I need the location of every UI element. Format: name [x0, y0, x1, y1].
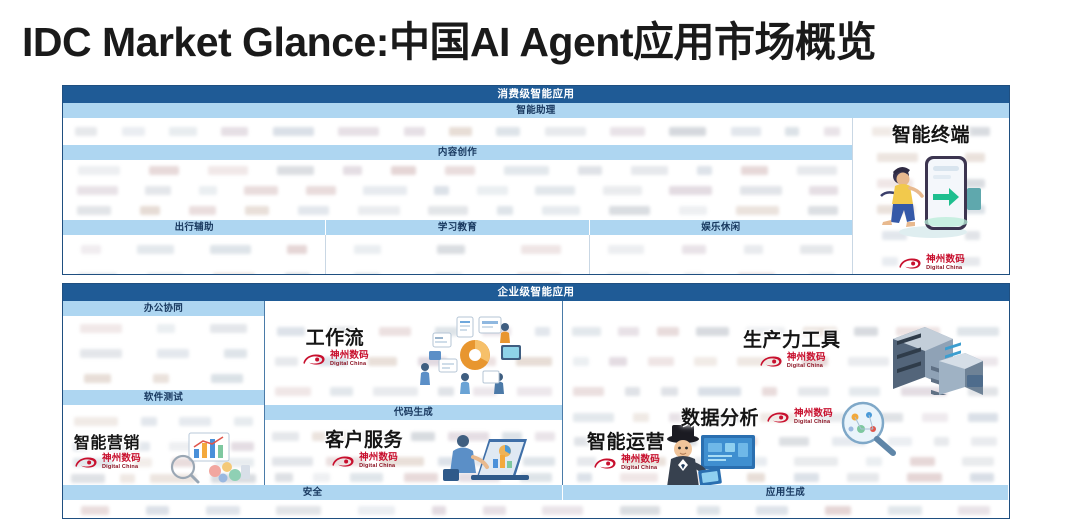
vendor-logo-grid-assistant	[63, 118, 852, 145]
vendor-logo	[872, 127, 910, 136]
vendor-logo	[74, 417, 118, 426]
vendor-logo	[211, 474, 256, 483]
vendor-logo	[746, 327, 785, 336]
vendor-logo	[75, 127, 97, 136]
vendor-logo	[738, 273, 775, 276]
vendor-logo	[448, 432, 489, 441]
vendor-logo	[73, 458, 113, 467]
vendor-logo	[803, 327, 837, 336]
enterprise-column-2: 代码生成	[265, 301, 563, 485]
vendor-logo	[737, 357, 781, 366]
vendor-logo	[762, 387, 777, 396]
vendor-logo-row	[563, 405, 1008, 429]
vendor-logo	[572, 327, 601, 336]
vendor-logo	[516, 357, 552, 366]
vendor-logo	[882, 257, 898, 266]
vendor-logo	[404, 127, 425, 136]
vendor-logo	[221, 127, 248, 136]
vendor-logo	[741, 166, 768, 175]
vendor-logo-grid-productivity	[563, 316, 1008, 405]
vendor-logo	[77, 186, 118, 195]
vendor-logo	[901, 387, 947, 396]
vendor-logo	[244, 186, 278, 195]
vendor-logo	[285, 273, 310, 276]
vendor-logo	[199, 186, 217, 195]
vendor-logo-row	[853, 144, 1009, 170]
vendor-logo	[573, 413, 614, 422]
vendor-logo	[418, 357, 447, 366]
consumer-section-header: 消费级智能应用	[63, 86, 1009, 103]
vendor-logo	[231, 442, 254, 451]
subcategory-entertainment-leisure: 娱乐休闲	[590, 220, 852, 235]
vendor-logo	[794, 457, 838, 466]
vendor-logo	[747, 473, 765, 482]
vendor-logo	[877, 179, 913, 188]
vendor-logo	[77, 206, 111, 215]
vendor-logo	[435, 273, 462, 276]
vendor-logo	[80, 324, 122, 333]
vendor-logo	[206, 506, 240, 515]
vendor-logo	[437, 245, 465, 254]
vendor-logo	[698, 387, 741, 396]
vendor-logo	[849, 387, 880, 396]
vendor-logo	[438, 387, 454, 396]
vendor-logo-grid-marketing	[63, 438, 264, 485]
vendor-logo	[809, 273, 835, 276]
vendor-logo	[208, 166, 248, 175]
vendor-logo-row	[63, 438, 264, 454]
vendor-logo	[272, 457, 313, 466]
vendor-logo	[78, 166, 120, 175]
vendor-logo	[458, 473, 500, 482]
vendor-logo	[809, 186, 838, 195]
vendor-logo	[888, 506, 922, 515]
enterprise-section-header: 企业级智能应用	[63, 284, 1009, 301]
vendor-logo-grid-office	[63, 316, 264, 390]
vendor-logo	[607, 273, 650, 276]
vendor-logo	[350, 473, 383, 482]
vendor-logo	[432, 506, 446, 515]
vendor-logo-row	[590, 235, 852, 263]
vendor-logo-row	[563, 316, 1008, 346]
vendor-logo-grid-entertainment	[590, 235, 852, 275]
vendor-logo-row	[563, 469, 1008, 485]
vendor-logo	[157, 324, 175, 333]
vendor-logo	[373, 387, 418, 396]
vendor-logo	[669, 413, 691, 422]
vendor-logo	[78, 273, 117, 276]
vendor-logo	[896, 327, 940, 336]
vendor-logo	[633, 413, 649, 422]
vendor-logo-row	[265, 453, 562, 469]
vendor-logo	[785, 127, 799, 136]
vendor-logo-row	[63, 341, 264, 366]
vendor-logo	[210, 324, 247, 333]
vendor-logo	[744, 245, 763, 254]
vendor-logo	[169, 442, 212, 451]
vendor-logo	[141, 417, 157, 426]
vendor-logo	[832, 437, 866, 446]
vendor-logo	[502, 432, 522, 441]
vendor-logo-row	[63, 454, 264, 470]
vendor-logo	[169, 127, 197, 136]
vendor-logo	[909, 357, 948, 366]
vendor-logo	[631, 166, 668, 175]
vendor-logo	[329, 327, 355, 336]
vendor-logo	[318, 357, 348, 366]
vendor-logo	[731, 127, 761, 136]
vendor-logo	[343, 166, 362, 175]
vendor-logo	[473, 387, 497, 396]
vendor-logo	[661, 387, 678, 396]
vendor-logo-grid-content-creation	[63, 160, 852, 220]
vendor-logo	[697, 506, 720, 515]
vendor-logo	[361, 432, 398, 441]
vendor-logo	[338, 127, 379, 136]
vendor-logo	[627, 437, 659, 446]
vendor-logo	[848, 357, 889, 366]
vendor-logo	[922, 413, 948, 422]
vendor-logo-row	[326, 263, 588, 275]
vendor-logo	[330, 387, 353, 396]
enterprise-column-3: 生产力工具 神州数码 Digital China	[563, 301, 1008, 485]
vendor-logo-row	[265, 316, 562, 346]
vendor-logo	[189, 206, 216, 215]
vendor-logo	[275, 473, 293, 482]
vendor-logo	[120, 474, 135, 483]
subcategory-learning-education: 学习教育	[326, 220, 589, 235]
vendor-logo	[313, 473, 330, 482]
vendor-logo	[779, 437, 809, 446]
subcategory-security: 安全	[63, 485, 563, 500]
vendor-logo-grid-terminal	[853, 118, 1009, 275]
vendor-logo	[81, 245, 101, 254]
vendor-logo	[603, 186, 642, 195]
vendor-logo	[306, 186, 336, 195]
vendor-logo	[854, 327, 878, 336]
subcategory-software-testing: 软件测试	[63, 390, 264, 405]
consumer-body: 内容创作 出行辅助 学习教育 娱乐休闲	[63, 118, 1009, 275]
vendor-logo	[756, 506, 788, 515]
slide-canvas: IDC Market Glance:中国AI Agent应用市场概览 消费级智能…	[0, 0, 1080, 525]
vendor-logo	[391, 166, 416, 175]
vendor-logo	[965, 153, 985, 162]
vendor-logo-grid-testing	[63, 405, 264, 438]
subcategory-smart-assistant: 智能助理	[63, 103, 1009, 118]
vendor-logo	[81, 506, 109, 515]
vendor-logo-row	[63, 235, 325, 263]
vendor-logo	[106, 442, 150, 451]
vendor-logo	[273, 127, 314, 136]
vendor-logo	[866, 457, 882, 466]
page-title: IDC Market Glance:中国AI Agent应用市场概览	[22, 18, 1068, 66]
vendor-logo	[816, 413, 857, 422]
vendor-logo-row	[563, 453, 1008, 469]
enterprise-bottom-subcategory-row: 安全 应用生成	[63, 485, 1009, 500]
vendor-logo	[542, 506, 583, 515]
vendor-logo-row	[265, 420, 562, 453]
vendor-logo-row	[63, 160, 852, 180]
vendor-logo	[298, 206, 329, 215]
vendor-logo	[535, 327, 550, 336]
vendor-logo	[882, 231, 907, 240]
vendor-logo-row	[63, 316, 264, 341]
vendor-logo	[620, 473, 658, 482]
vendor-logo	[847, 473, 879, 482]
vendor-logo-row	[853, 222, 1009, 248]
vendor-logo-grid-customer-service	[265, 453, 562, 485]
vendor-logo-row	[63, 200, 852, 220]
vendor-logo	[696, 327, 729, 336]
vendor-logo	[275, 357, 298, 366]
vendor-logo-row	[63, 470, 264, 485]
vendor-logo	[877, 205, 915, 214]
vendor-logo	[272, 432, 299, 441]
vendor-logo	[482, 327, 511, 336]
vendor-logo	[245, 206, 269, 215]
vendor-logo	[969, 357, 998, 366]
vendor-logo	[276, 506, 321, 515]
vendor-logo	[610, 127, 645, 136]
vendor-logo	[686, 473, 719, 482]
vendor-logo	[577, 473, 592, 482]
consumer-subcategory-bar-row: 出行辅助 学习教育 娱乐休闲	[63, 220, 852, 235]
vendor-logo	[877, 413, 903, 422]
vendor-logo	[520, 473, 552, 482]
vendor-logo	[71, 474, 105, 483]
vendor-logo	[609, 357, 627, 366]
vendor-logo	[517, 387, 552, 396]
vendor-logo	[719, 437, 757, 446]
vendor-logo	[679, 206, 707, 215]
vendor-logo	[368, 357, 397, 366]
vendor-logo	[573, 387, 604, 396]
vendor-logo	[146, 506, 169, 515]
vendor-logo	[73, 442, 87, 451]
vendor-logo	[948, 127, 990, 136]
vendor-logo	[808, 206, 838, 215]
vendor-logo-row	[63, 366, 264, 390]
vendor-logo	[497, 206, 513, 215]
vendor-logo-row	[63, 405, 264, 438]
vendor-logo	[137, 245, 174, 254]
vendor-logo	[234, 417, 253, 426]
vendor-logo	[354, 245, 381, 254]
vendor-logo	[608, 245, 644, 254]
vendor-logo	[824, 127, 840, 136]
vendor-logo	[145, 186, 171, 195]
vendor-logo	[970, 473, 994, 482]
vendor-logo	[358, 506, 395, 515]
vendor-logo	[523, 457, 555, 466]
vendor-logo	[648, 357, 674, 366]
vendor-logo	[215, 458, 254, 467]
vendor-logo	[888, 437, 912, 446]
vendor-logo-row	[265, 376, 562, 405]
vendor-logo	[797, 166, 837, 175]
vendor-logo	[449, 127, 472, 136]
consumer-panel: 消费级智能应用 智能助理 内容创作 出行辅助 学习教育 娱乐休闲	[62, 85, 1010, 275]
vendor-logo	[573, 357, 589, 366]
vendor-logo	[800, 245, 833, 254]
vendor-logo	[968, 413, 998, 422]
vendor-logo	[134, 458, 152, 467]
vendor-logo-row	[63, 118, 852, 145]
vendor-logo-row	[853, 196, 1009, 222]
vendor-logo-grid-travel	[63, 235, 326, 275]
vendor-logo	[379, 327, 411, 336]
vendor-logo	[910, 457, 935, 466]
vendor-logo	[147, 273, 183, 276]
vendor-logo	[150, 474, 196, 483]
enterprise-column-1: 办公协同 软件测试	[63, 301, 265, 485]
vendor-logo	[578, 166, 602, 175]
vendor-logo-grid-code-generation	[265, 420, 562, 453]
vendor-logo	[798, 387, 829, 396]
vendor-logo	[483, 506, 506, 515]
subcategory-travel-assist: 出行辅助	[63, 220, 326, 235]
vendor-logo	[277, 166, 314, 175]
subcategory-office-collaboration: 办公协同	[63, 301, 264, 316]
vendor-logo-row	[265, 469, 562, 485]
vendor-logo	[802, 357, 828, 366]
vendor-logo-grid-workflow	[265, 316, 562, 405]
vendor-logo	[521, 245, 561, 254]
vendor-logo	[907, 473, 942, 482]
vendor-logo	[965, 231, 980, 240]
vendor-logo	[963, 205, 985, 214]
vendor-logo	[794, 473, 819, 482]
vendor-logo	[958, 506, 990, 515]
vendor-logo	[354, 273, 380, 276]
vendor-logo	[609, 206, 650, 215]
vendor-logo	[739, 457, 767, 466]
vendor-logo-row	[63, 263, 325, 275]
subcategory-code-generation: 代码生成	[265, 405, 562, 420]
vendor-logo	[682, 245, 706, 254]
enterprise-body: 办公协同 软件测试	[63, 301, 1009, 485]
vendor-logo	[657, 327, 679, 336]
vendor-logo	[620, 506, 660, 515]
vendor-logo	[684, 273, 704, 276]
smart-terminal-region: 智能终端 神州数码 Digital China	[853, 118, 1009, 275]
vendor-logo	[122, 127, 145, 136]
vendor-logo	[496, 127, 520, 136]
vendor-logo	[740, 186, 782, 195]
vendor-logo	[224, 349, 247, 358]
vendor-logo-row	[63, 500, 1009, 519]
vendor-logo	[545, 127, 586, 136]
vendor-logo-grid-bottom	[63, 500, 1009, 519]
vendor-logo	[210, 245, 251, 254]
vendor-logo	[968, 387, 998, 396]
vendor-logo	[669, 186, 712, 195]
vendor-logo	[760, 413, 796, 422]
vendor-logo	[535, 186, 575, 195]
vendor-logo-row	[853, 118, 1009, 144]
vendor-logo	[694, 357, 717, 366]
vendor-logo	[363, 186, 407, 195]
consumer-left-region: 内容创作 出行辅助 学习教育 娱乐休闲	[63, 118, 853, 275]
vendor-logo	[445, 166, 475, 175]
vendor-logo-row	[265, 346, 562, 376]
vendor-logo-grid-analytics	[563, 405, 1008, 453]
vendor-logo	[312, 432, 348, 441]
vendor-logo	[435, 327, 458, 336]
vendor-logo	[277, 327, 305, 336]
vendor-logo-row	[853, 248, 1009, 274]
vendor-logo	[681, 437, 697, 446]
vendor-logo	[625, 387, 640, 396]
vendor-logo	[140, 206, 160, 215]
vendor-logo-row	[563, 429, 1008, 453]
vendor-logo	[618, 327, 639, 336]
vendor-logo	[179, 417, 211, 426]
vendor-logo	[211, 374, 243, 383]
vendor-logo	[434, 186, 449, 195]
vendor-logo	[669, 127, 706, 136]
vendor-logo	[825, 506, 851, 515]
vendor-logo	[962, 457, 994, 466]
vendor-logo	[438, 457, 461, 466]
vendor-logo-row	[590, 263, 852, 275]
vendor-logo	[574, 437, 605, 446]
vendor-logo	[153, 374, 169, 383]
vendor-logo-row	[563, 376, 1008, 405]
vendor-logo	[287, 245, 307, 254]
subcategory-app-generation: 应用生成	[563, 485, 1008, 500]
vendor-logo	[694, 457, 711, 466]
vendor-logo	[971, 437, 997, 446]
vendor-logo	[474, 457, 509, 466]
vendor-logo-grid-education	[326, 235, 589, 275]
vendor-logo	[326, 457, 366, 466]
vendor-logo	[358, 206, 400, 215]
vendor-logo	[477, 186, 508, 195]
vendor-logo	[411, 432, 435, 441]
subcategory-content-creation: 内容创作	[63, 145, 852, 160]
consumer-three-column-grids	[63, 235, 852, 275]
vendor-logo-row	[853, 170, 1009, 196]
vendor-logo	[517, 273, 561, 276]
vendor-logo	[275, 387, 311, 396]
vendor-logo	[697, 166, 712, 175]
vendor-logo-row	[563, 346, 1008, 376]
vendor-logo	[504, 166, 549, 175]
vendor-logo	[736, 206, 779, 215]
vendor-logo	[956, 257, 980, 266]
vendor-logo	[84, 374, 111, 383]
vendor-logo	[80, 349, 122, 358]
vendor-logo	[213, 273, 255, 276]
vendor-logo	[711, 413, 741, 422]
vendor-logo	[542, 206, 580, 215]
vendor-logo	[957, 327, 999, 336]
vendor-logo	[172, 458, 194, 467]
vendor-logo	[467, 357, 496, 366]
vendor-logo	[934, 437, 949, 446]
vendor-logo	[962, 179, 985, 188]
vendor-logo	[428, 206, 468, 215]
vendor-logo	[380, 457, 424, 466]
vendor-logo-row	[326, 235, 588, 263]
vendor-logo	[877, 153, 918, 162]
vendor-logo	[535, 432, 555, 441]
vendor-logo	[404, 473, 438, 482]
vendor-logo	[577, 457, 596, 466]
vendor-logo	[157, 349, 189, 358]
vendor-logo-grid-operations	[563, 453, 1008, 485]
